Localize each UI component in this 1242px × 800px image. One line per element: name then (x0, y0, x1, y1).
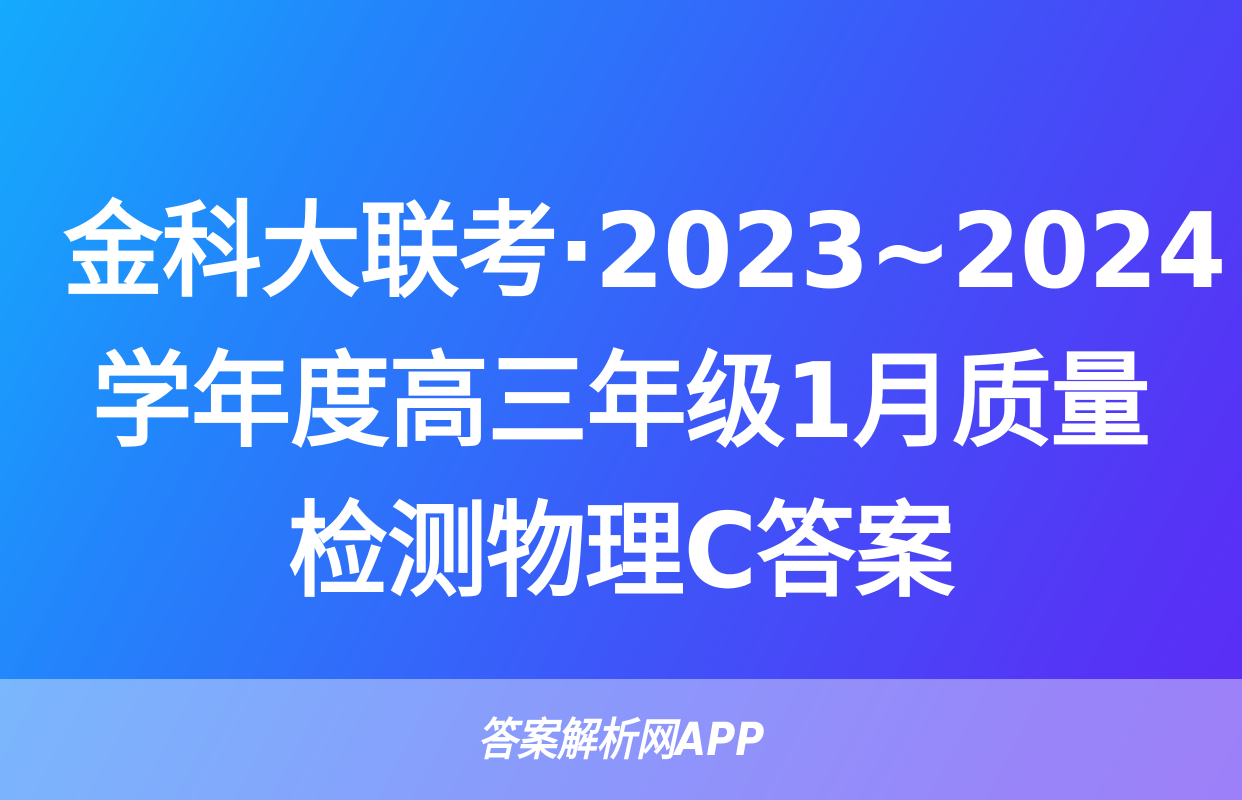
page-title: 金科大联考·2023~2024 学年度高三年级1月质量 检测物理C答案 (0, 176, 1242, 626)
title-line-2: 学年度高三年级1月质量 (63, 326, 1179, 476)
title-line-3: 检测物理C答案 (63, 476, 1179, 626)
footer-watermark-label: 答案解析网APP (478, 717, 765, 762)
title-line-1: 金科大联考·2023~2024 (63, 176, 1179, 326)
footer-watermark-band: 答案解析网APP (0, 679, 1242, 800)
poster-container: 金科大联考·2023~2024 学年度高三年级1月质量 检测物理C答案 答案解析… (0, 0, 1242, 800)
